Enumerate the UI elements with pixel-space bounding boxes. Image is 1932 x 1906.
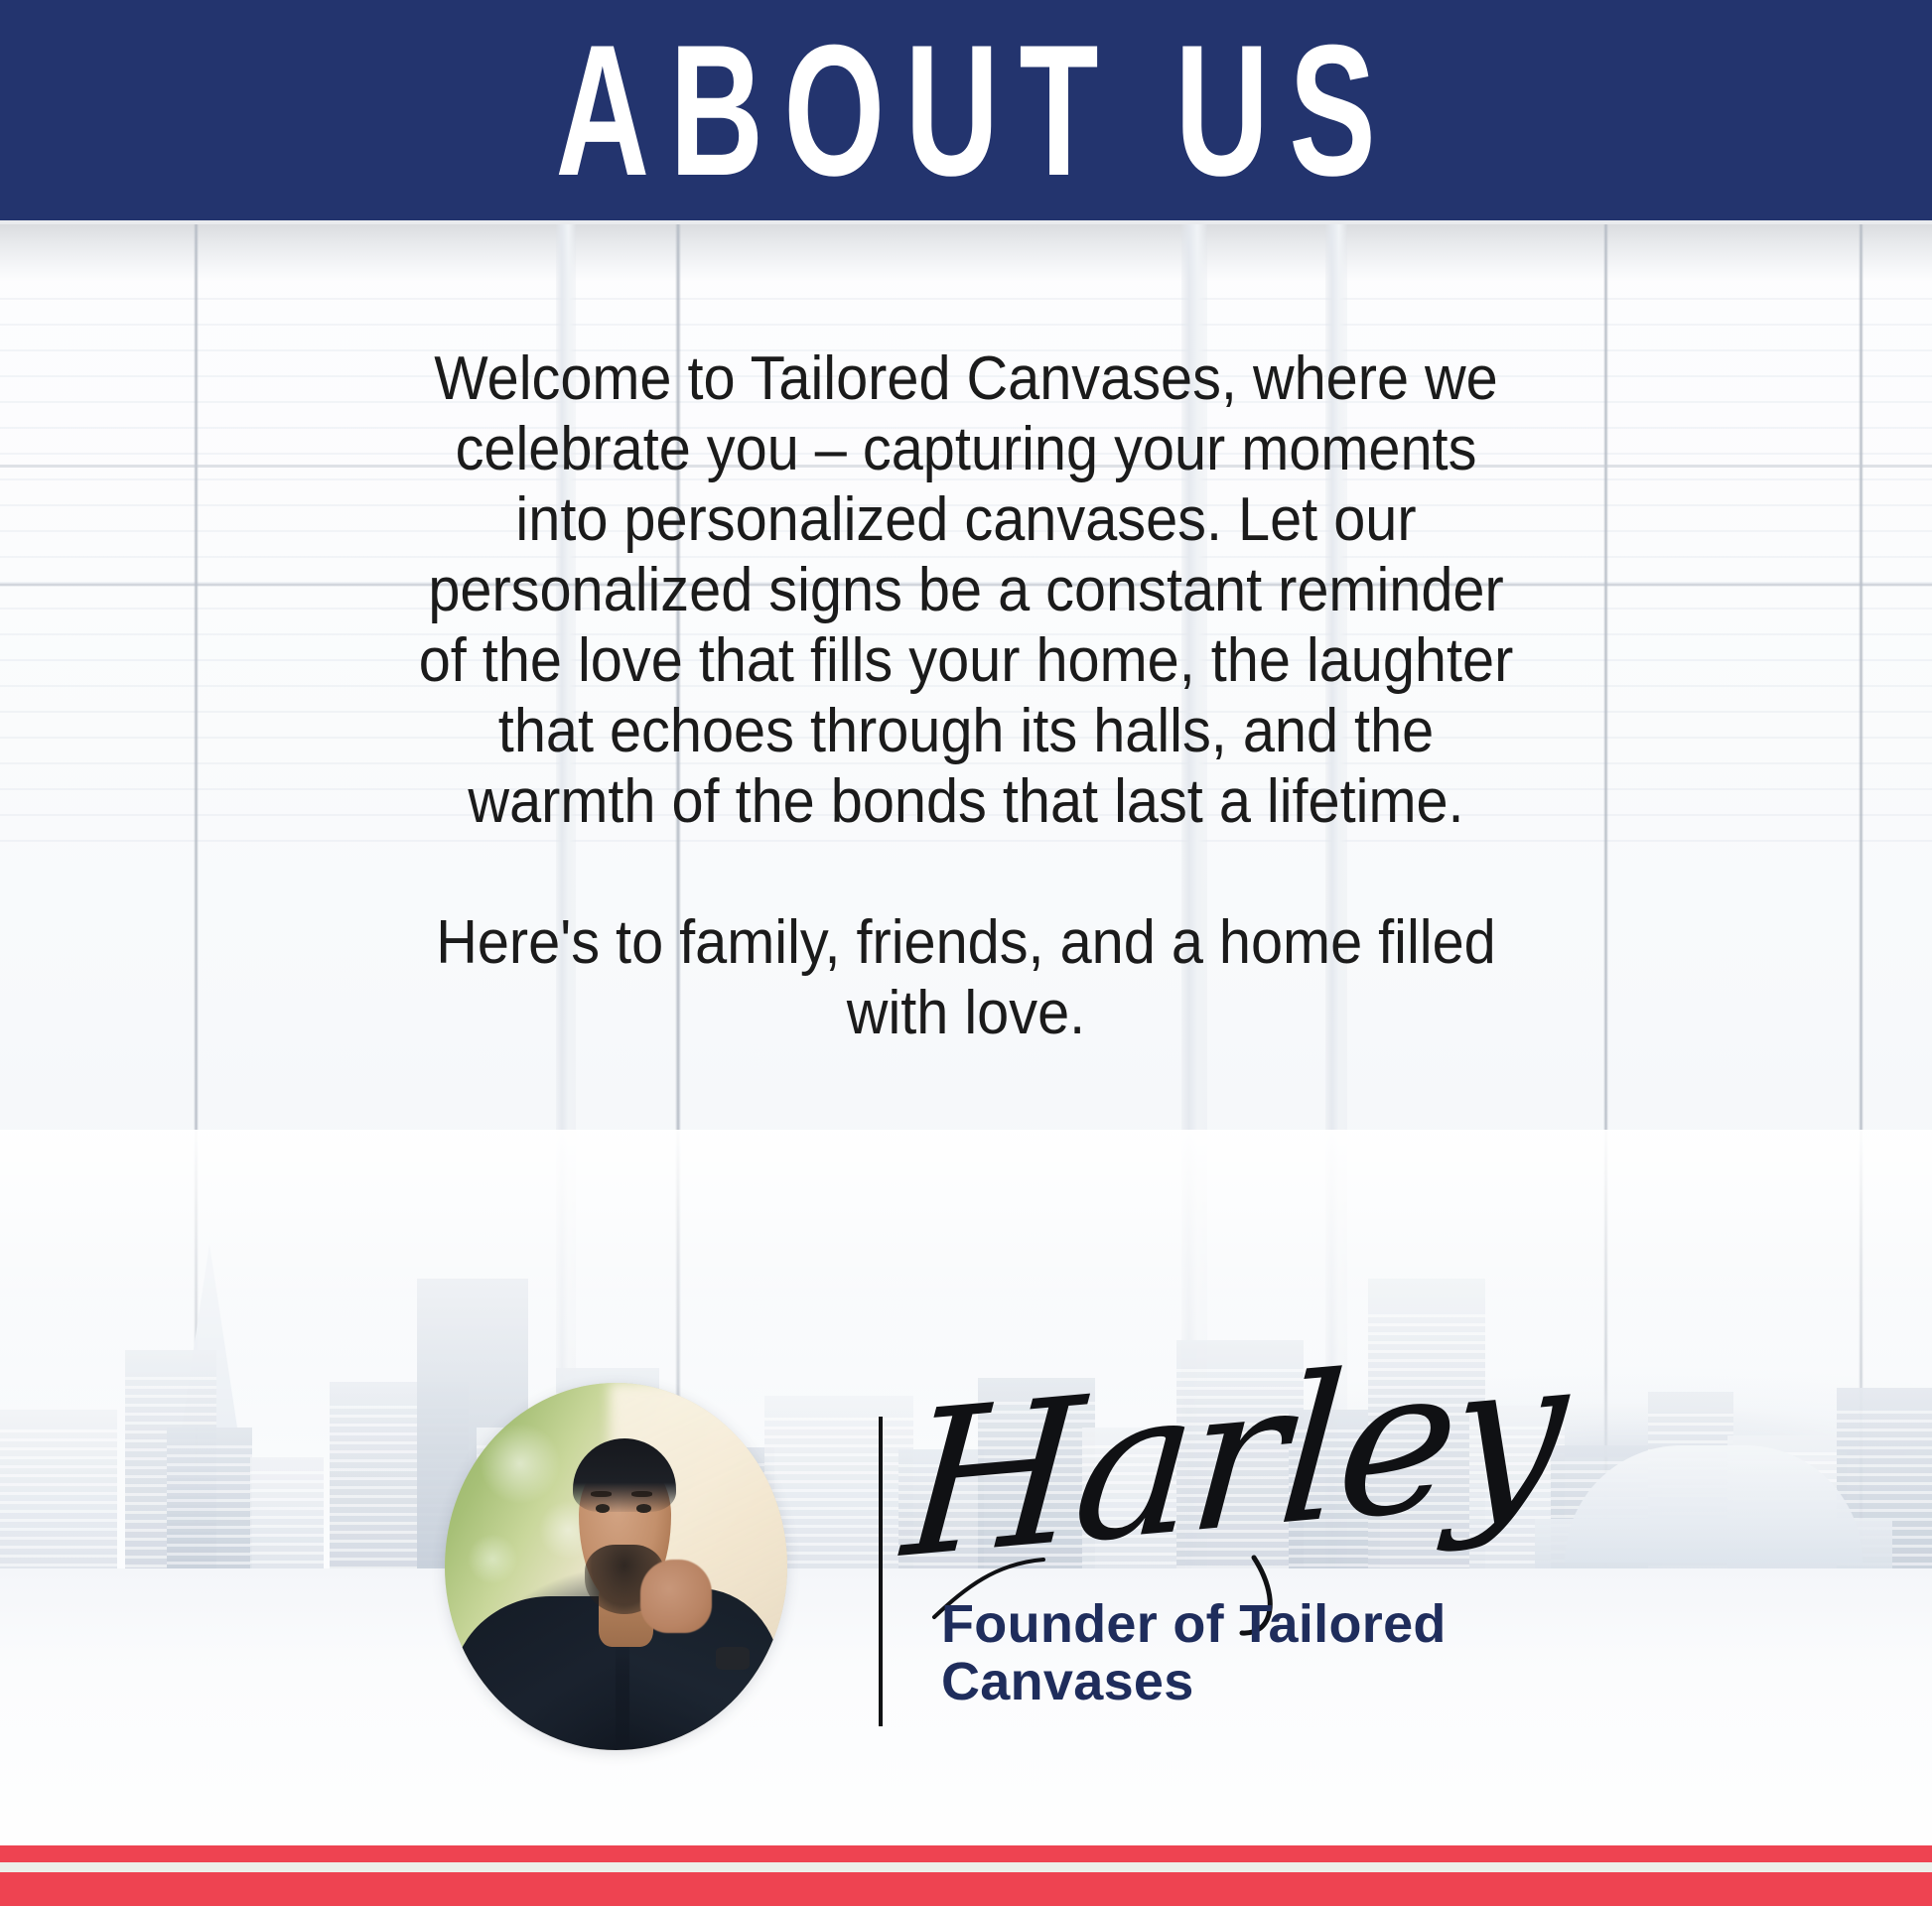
portrait-eyebrow xyxy=(591,1491,612,1497)
ceiling-band xyxy=(0,220,1932,282)
copy-line: that echoes through its halls, and the xyxy=(320,696,1612,766)
paragraph-2: Here's to family, friends, and a home fi… xyxy=(271,907,1661,1048)
about-us-body-copy: Welcome to Tailored Canvases, where we c… xyxy=(271,343,1661,1048)
copy-line: personalized signs be a constant reminde… xyxy=(320,555,1612,625)
header-banner: ABOUT US xyxy=(0,0,1932,220)
portrait-eyebrow xyxy=(631,1491,652,1497)
copy-line: Here's to family, friends, and a home fi… xyxy=(320,907,1612,978)
founder-title: Founder of Tailored Canvases xyxy=(941,1595,1557,1710)
copy-line: with love. xyxy=(320,978,1612,1048)
about-us-poster: ABOUT US Welcome to Tailored Canvases, w… xyxy=(0,0,1932,1906)
founder-block: Harley Founder of Tailored Canvases xyxy=(0,1375,1932,1772)
copy-line: of the love that fills your home, the la… xyxy=(320,625,1612,696)
paragraph-spacer xyxy=(271,837,1661,907)
copy-line: Welcome to Tailored Canvases, where we xyxy=(320,343,1612,414)
copy-line: celebrate you – capturing your moments xyxy=(320,414,1612,484)
avatar xyxy=(445,1383,787,1750)
portrait-eye xyxy=(596,1504,610,1513)
banner-underline xyxy=(0,220,1932,224)
footer-stripe-bottom xyxy=(0,1872,1932,1906)
portrait-watch xyxy=(716,1647,751,1669)
copy-line: into personalized canvases. Let our xyxy=(320,484,1612,555)
signature-text: Harley xyxy=(898,1329,1567,1587)
founder-title-line-1: Founder of Tailored xyxy=(941,1595,1557,1653)
founder-title-line-2: Canvases xyxy=(941,1653,1557,1710)
copy-line: warmth of the bonds that last a lifetime… xyxy=(320,766,1612,837)
footer-stripe-top xyxy=(0,1845,1932,1862)
footer-stripe-gap xyxy=(0,1862,1932,1872)
page-title: ABOUT US xyxy=(536,17,1397,204)
portrait-hand xyxy=(640,1560,712,1633)
portrait-eye xyxy=(636,1504,650,1513)
paragraph-1: Welcome to Tailored Canvases, where we c… xyxy=(271,343,1661,837)
vertical-divider xyxy=(879,1417,883,1726)
